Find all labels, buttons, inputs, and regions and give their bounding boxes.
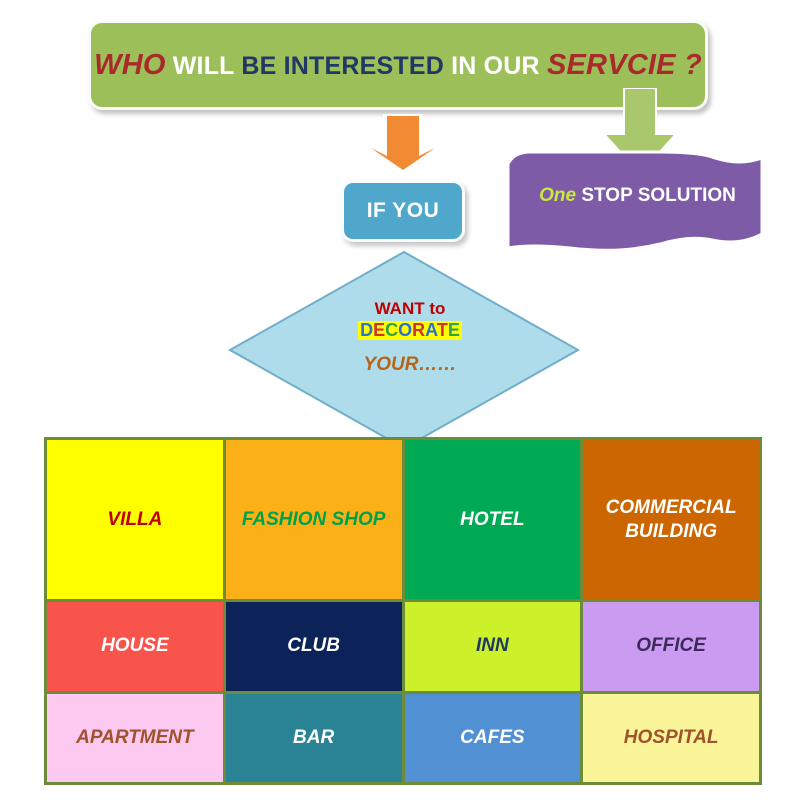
grid-cell-apartment[interactable]: APARTMENT bbox=[46, 692, 225, 783]
grid-cell-villa[interactable]: VILLA bbox=[46, 439, 225, 601]
grid-cell-hospital[interactable]: HOSPITAL bbox=[582, 692, 761, 783]
grid-cell-bar[interactable]: BAR bbox=[224, 692, 403, 783]
table-row: HOUSE CLUB INN OFFICE bbox=[46, 601, 761, 692]
decorate-letter-7: E bbox=[448, 320, 460, 340]
grid-cell-office[interactable]: OFFICE bbox=[582, 601, 761, 692]
diamond-text-block: WANT to DECORATE YOUR…… bbox=[330, 300, 490, 375]
one-stop-solution-text: One STOP SOLUTION bbox=[520, 185, 755, 207]
decorate-letter-6: T bbox=[437, 320, 448, 340]
grid-cell-fashion-shop[interactable]: FASHION SHOP bbox=[224, 439, 403, 601]
banner-word-one: One bbox=[539, 185, 576, 206]
grid-cell-hotel[interactable]: HOTEL bbox=[403, 439, 582, 601]
diamond-line-your: YOUR…… bbox=[330, 355, 490, 375]
grid-cell-house[interactable]: HOUSE bbox=[46, 601, 225, 692]
down-arrow-orange-icon bbox=[343, 112, 463, 174]
table-row: APARTMENT BAR CAFES HOSPITAL bbox=[46, 692, 761, 783]
if-you-box[interactable]: IF YOU bbox=[341, 180, 465, 242]
header-words-be-interested: BE INTERESTED bbox=[234, 52, 444, 80]
diamond-line-decorate: DECORATE bbox=[358, 321, 462, 340]
decorate-letter-3: O bbox=[398, 320, 412, 340]
header-question-text: WHO WILL BE INTERESTED IN OUR SERVCIE ? bbox=[94, 49, 702, 82]
table-row: VILLA FASHION SHOP HOTEL COMMERCIAL BUIL… bbox=[46, 439, 761, 601]
grid-cell-commercial-building[interactable]: COMMERCIAL BUILDING bbox=[582, 439, 761, 601]
grid-cell-inn[interactable]: INN bbox=[403, 601, 582, 692]
header-word-who: WHO bbox=[94, 49, 165, 81]
banner-words-stop-solution: STOP SOLUTION bbox=[576, 185, 736, 206]
if-you-label: IF YOU bbox=[367, 199, 440, 223]
decorate-letter-0: D bbox=[360, 320, 373, 340]
header-word-will: WILL bbox=[166, 52, 235, 80]
decorate-letter-5: A bbox=[425, 320, 437, 340]
diamond-line-want-to: WANT to bbox=[330, 300, 490, 318]
header-words-in-our: IN OUR bbox=[444, 52, 547, 80]
grid-cell-club[interactable]: CLUB bbox=[224, 601, 403, 692]
decorate-letter-1: E bbox=[373, 320, 385, 340]
header-word-servcie: SERVCIE ? bbox=[547, 49, 702, 81]
grid-cell-cafes[interactable]: CAFES bbox=[403, 692, 582, 783]
category-grid: VILLA FASHION SHOP HOTEL COMMERCIAL BUIL… bbox=[44, 437, 762, 785]
decorate-letter-4: R bbox=[412, 320, 425, 340]
decorate-letter-2: C bbox=[385, 320, 398, 340]
